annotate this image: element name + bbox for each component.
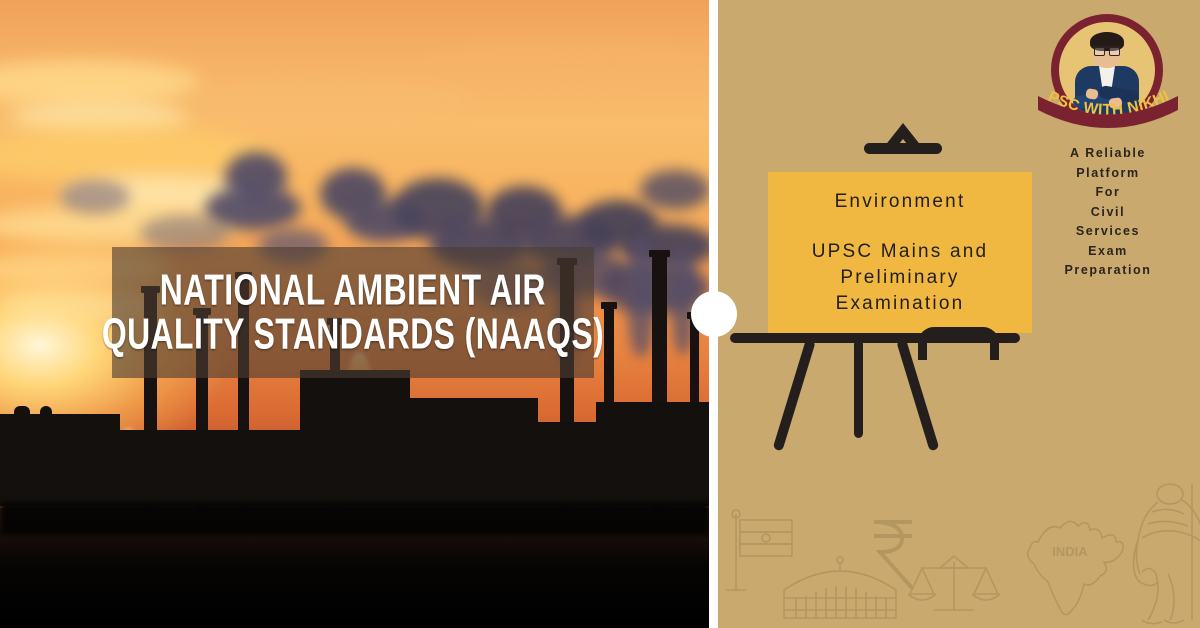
board-subtitle: UPSC Mains and Preliminary Examination: [768, 239, 1032, 317]
smoke-puff: [205, 186, 301, 230]
scales-of-justice-icon: [908, 556, 1000, 610]
plant-block: [236, 452, 536, 506]
brand-panel: UPSC WITH NIKHIL A Reliable Platform For…: [718, 0, 1200, 628]
watermark-icon-row: INDIA: [718, 478, 1200, 628]
plant-block: [398, 398, 440, 458]
divider-dot: [691, 291, 737, 337]
cloud-streak: [420, 40, 710, 84]
easel-board: Environment UPSC Mains and Preliminary E…: [768, 172, 1032, 333]
india-map-icon: INDIA: [1028, 521, 1123, 614]
board-subtitle-line: Preliminary: [768, 265, 1032, 291]
easel-handle: [918, 327, 999, 360]
indian-flag-icon: [726, 510, 792, 590]
pipe: [14, 406, 30, 458]
easel-leg-center: [854, 340, 863, 438]
easel-ledge: [730, 333, 1020, 343]
parliament-building-icon: [784, 557, 896, 618]
pipe: [40, 406, 52, 448]
industrial-sunset-photo: NATIONAL AMBIENT AIR QUALITY STANDARDS (…: [0, 0, 710, 628]
foreground-ground: [0, 508, 710, 628]
easel-leg-left: [773, 339, 816, 452]
plant-block: [596, 402, 710, 506]
smoke-puff: [640, 170, 710, 210]
india-map-label: INDIA: [1052, 544, 1088, 559]
headline-overlay: NATIONAL AMBIENT AIR QUALITY STANDARDS (…: [112, 247, 594, 378]
board-subtitle-line: UPSC Mains and: [768, 239, 1032, 265]
gandhi-walking-icon: [1134, 484, 1200, 624]
rupee-symbol-icon: [874, 522, 912, 588]
headline-line-2: QUALITY STANDARDS (NAAQS): [102, 309, 604, 359]
headline-line-1: NATIONAL AMBIENT AIR: [160, 265, 546, 315]
easel-top-bar: [864, 143, 942, 154]
easel-illustration: Environment UPSC Mains and Preliminary E…: [718, 0, 1200, 480]
promo-banner: NATIONAL AMBIENT AIR QUALITY STANDARDS (…: [0, 0, 1200, 628]
board-title: Environment: [768, 191, 1032, 213]
board-subtitle-line: Examination: [768, 291, 1032, 317]
pipe: [66, 458, 100, 470]
smoke-puff: [60, 180, 130, 214]
cloud-streak: [170, 80, 470, 120]
